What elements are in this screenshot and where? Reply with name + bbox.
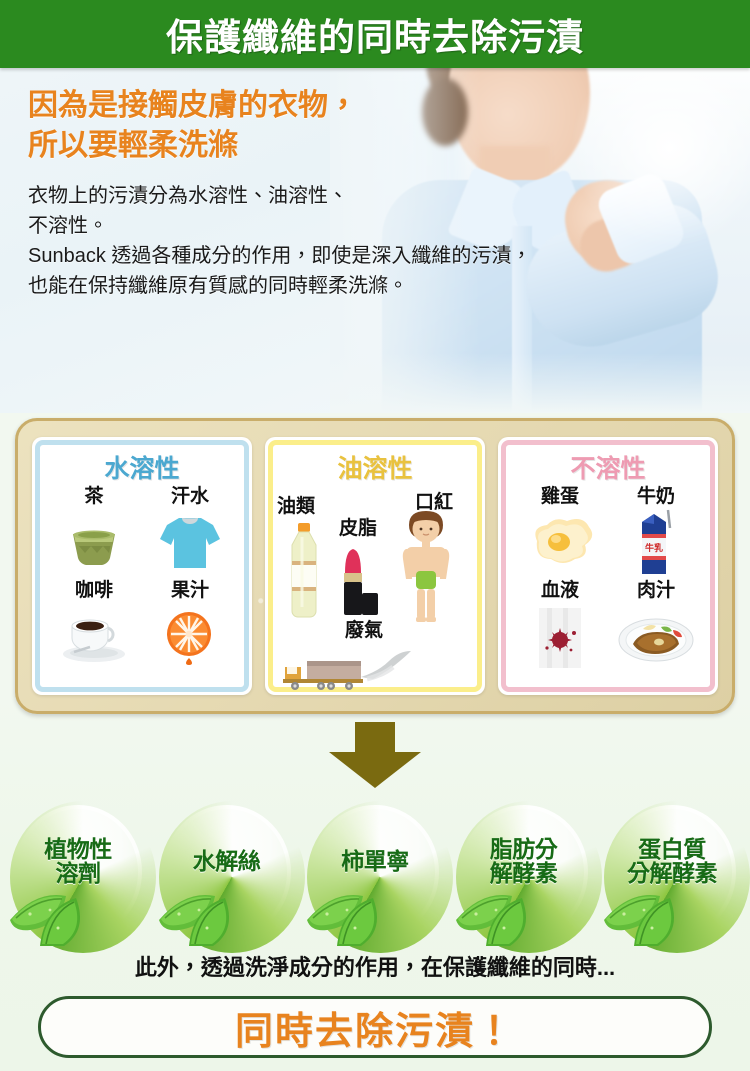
badge-label: 蛋白質 分解酵素: [602, 801, 742, 921]
badge-label: 水解絲: [157, 801, 297, 921]
badge-persimmon-tannin[interactable]: 柿單寧: [305, 801, 445, 947]
badge-label-line2: 溶劑: [56, 861, 101, 885]
item-milk: 牛奶 牛乳: [608, 487, 704, 581]
coffee-cup-icon: [46, 601, 142, 675]
item-juice: 果汁: [142, 581, 238, 675]
item-label: 血液: [512, 581, 608, 601]
badge-hydrolyzed-silk[interactable]: 水解絲: [157, 801, 297, 947]
infographic-page: 保護纖維的同時去除污漬 因為是接觸皮膚的衣物， 所以要輕柔洗滌: [0, 0, 750, 1071]
badge-label-line1: 柿單寧: [341, 849, 409, 873]
item-label-oils: 油類: [277, 491, 315, 518]
item-sweat: 汗水: [142, 487, 238, 581]
badge-label-line2: 解酵素: [490, 861, 558, 885]
item-gravy: 肉汁: [608, 581, 704, 675]
badge-label-line2: 分解酵素: [627, 861, 717, 885]
item-label: 雞蛋: [512, 487, 608, 507]
item-label: 肉汁: [608, 581, 704, 601]
hero-lead: 因為是接觸皮膚的衣物， 所以要輕柔洗滌: [28, 86, 588, 165]
orange-slice-icon: [142, 601, 238, 675]
item-label-sebum: 皮脂: [339, 513, 377, 540]
milk-carton-icon: 牛乳: [608, 507, 704, 581]
lipstick-icon: [335, 543, 381, 633]
hero-lead-line2: 所以要輕柔洗滌: [28, 126, 588, 166]
hero-lead-line1: 因為是接觸皮膚的衣物，: [28, 86, 588, 126]
panel-insoluble: 不溶性 雞蛋 牛奶: [498, 437, 718, 695]
badge-label-line1: 水解絲: [193, 849, 261, 873]
body-sebum-icon: [395, 509, 457, 629]
photo-fade-bottom: [330, 353, 750, 413]
item-label: 茶: [46, 487, 142, 507]
panel-title-water: 水溶性: [38, 449, 246, 485]
down-arrow-icon: [317, 722, 433, 793]
panel-title-oil: 油溶性: [271, 449, 479, 485]
item-label: 果汁: [142, 581, 238, 601]
ingredient-badges: 植物性 溶劑 水解絲: [8, 800, 742, 948]
header-banner: 保護纖維的同時去除污漬: [0, 0, 750, 68]
footer-highlight-pill: 同時去除污漬！: [38, 996, 712, 1058]
item-label: 咖啡: [46, 581, 142, 601]
badge-label: 植物性 溶劑: [8, 801, 148, 921]
hero-section: 因為是接觸皮膚的衣物， 所以要輕柔洗滌 衣物上的污漬分為水溶性、油溶性、 不溶性…: [0, 68, 750, 413]
gravy-plate-icon: [608, 601, 704, 675]
milk-carton-text: 牛乳: [645, 542, 663, 553]
hero-body: 衣物上的污漬分為水溶性、油溶性、 不溶性。 Sunback 透過各種成分的作用，…: [28, 181, 588, 301]
t-shirt-icon: [142, 507, 238, 581]
panel-title-insoluble: 不溶性: [504, 449, 712, 485]
item-egg: 雞蛋: [512, 487, 608, 581]
hero-body-line4: 也能在保持纖維原有質感的同時輕柔洗滌。: [28, 271, 588, 301]
badge-label-line1: 植物性: [44, 837, 112, 861]
badge-label-line1: 蛋白質: [638, 837, 706, 861]
oil-bottle-icon: [281, 521, 327, 621]
truck-exhaust-icon: [277, 647, 427, 697]
badge-plant-solvent[interactable]: 植物性 溶劑: [8, 801, 148, 947]
item-coffee: 咖啡: [46, 581, 142, 675]
page-title: 保護纖維的同時去除污漬: [166, 7, 584, 61]
hero-body-line3: Sunback 透過各種成分的作用，即使是深入纖維的污漬，: [28, 241, 588, 271]
badge-label-line1: 脂肪分: [490, 837, 558, 861]
hero-body-line2: 不溶性。: [28, 211, 588, 241]
stain-category-panels: 水溶性 茶 汗水: [15, 418, 735, 714]
fried-egg-icon: [512, 507, 608, 581]
panel-water-soluble: 水溶性 茶 汗水: [32, 437, 252, 695]
badge-label: 柿單寧: [305, 801, 445, 921]
footer-pill-text: 同時去除污漬！: [235, 1000, 515, 1055]
panel-oil-items: 油類 皮脂 口紅 廢氣: [271, 487, 479, 699]
item-label: 汗水: [142, 487, 238, 507]
panel-oil-soluble: 油溶性 油類 皮脂 口紅 廢氣: [265, 437, 485, 695]
item-tea: 茶: [46, 487, 142, 581]
hero-text-block: 因為是接觸皮膚的衣物， 所以要輕柔洗滌 衣物上的污漬分為水溶性、油溶性、 不溶性…: [28, 86, 588, 301]
item-blood: 血液: [512, 581, 608, 675]
blood-stain-icon: [512, 601, 608, 675]
badge-label: 脂肪分 解酵素: [454, 801, 594, 921]
panel-insoluble-items: 雞蛋 牛奶: [504, 487, 712, 675]
badge-lipase[interactable]: 脂肪分 解酵素: [454, 801, 594, 947]
badge-protease[interactable]: 蛋白質 分解酵素: [602, 801, 742, 947]
footer-note: 此外，透過洗淨成分的作用，在保護纖維的同時...: [0, 950, 750, 982]
tea-bowl-icon: [46, 507, 142, 581]
item-label: 牛奶: [608, 487, 704, 507]
panel-water-items: 茶 汗水: [38, 487, 246, 675]
hero-body-line1: 衣物上的污漬分為水溶性、油溶性、: [28, 181, 588, 211]
